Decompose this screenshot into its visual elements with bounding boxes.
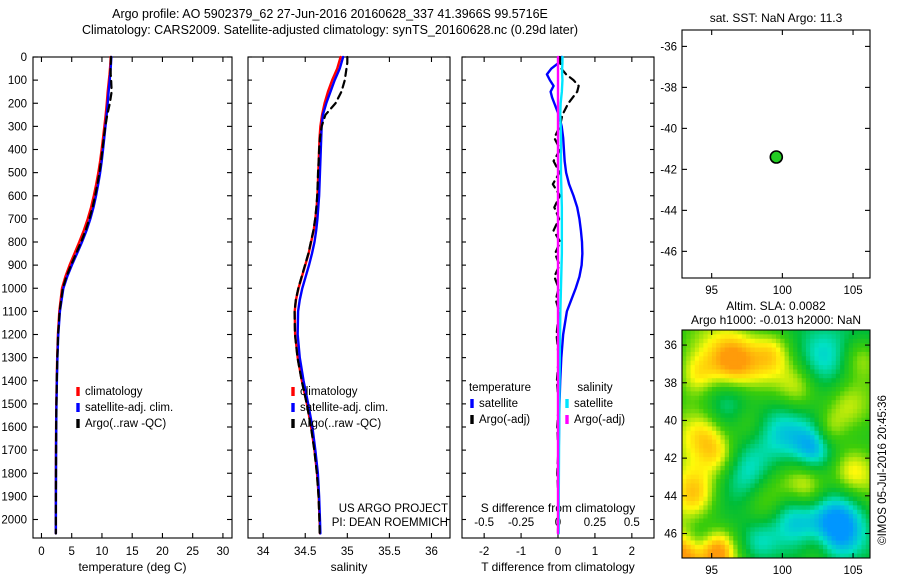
- sla-cell: [814, 466, 819, 471]
- sla-cell: [738, 431, 743, 436]
- sla-cell: [708, 479, 713, 484]
- sla-cell: [720, 545, 725, 550]
- sla-cell: [780, 387, 785, 392]
- sla-cell: [738, 462, 743, 467]
- sla-cell: [720, 343, 725, 348]
- sla-cell: [691, 457, 696, 462]
- sla-cell: [780, 418, 785, 423]
- sla-cell: [712, 470, 717, 475]
- sla-cell: [853, 462, 858, 467]
- sla-cell: [699, 532, 704, 537]
- sla-cell: [793, 343, 798, 348]
- sla-cell: [849, 536, 854, 541]
- sla-cell: [755, 352, 760, 357]
- sla-cell: [785, 523, 790, 528]
- sla-cell: [729, 549, 734, 554]
- sla-cell: [750, 505, 755, 510]
- sla-cell: [746, 391, 751, 396]
- sla-cell: [772, 413, 777, 418]
- sla-cell: [695, 475, 700, 480]
- sla-cell: [806, 378, 811, 383]
- sla-cell: [733, 339, 738, 344]
- sla-cell: [691, 391, 696, 396]
- sla-cell: [797, 361, 802, 366]
- sla-cell: [849, 523, 854, 528]
- sla-cell: [708, 361, 713, 366]
- sla-cell: [682, 540, 687, 545]
- sla-cell: [703, 523, 708, 528]
- sla-cell: [827, 413, 832, 418]
- sla-cell: [836, 374, 841, 379]
- sla-cell: [742, 361, 747, 366]
- sla-cell: [686, 435, 691, 440]
- sla-cell: [729, 444, 734, 449]
- sla-cell: [746, 352, 751, 357]
- sla-cell: [742, 466, 747, 471]
- sla-cell: [802, 453, 807, 458]
- sla-cell: [763, 348, 768, 353]
- sla-cell: [750, 453, 755, 458]
- sla-cell: [763, 352, 768, 357]
- sla-cell: [827, 497, 832, 502]
- sla-cell: [733, 343, 738, 348]
- sla-cell: [733, 475, 738, 480]
- sla-cell: [789, 519, 794, 524]
- sla-cell: [767, 348, 772, 353]
- sla-cell: [832, 479, 837, 484]
- sla-cell: [857, 330, 862, 335]
- sla-cell: [789, 470, 794, 475]
- sla-cell: [793, 497, 798, 502]
- sla-cell: [780, 405, 785, 410]
- sla-cell: [853, 405, 858, 410]
- sla-cell: [746, 422, 751, 427]
- sla-cell: [814, 501, 819, 506]
- sla-cell: [793, 527, 798, 532]
- sla-cell: [849, 374, 854, 379]
- sla-cell: [759, 396, 764, 401]
- sla-cell: [755, 501, 760, 506]
- sla-cell: [712, 330, 717, 335]
- sla-cell: [827, 532, 832, 537]
- sla-cell: [759, 497, 764, 502]
- sla-cell: [780, 532, 785, 537]
- sla-cell: [750, 356, 755, 361]
- sla-cell: [763, 365, 768, 370]
- sla-cell: [832, 536, 837, 541]
- sla-cell: [810, 356, 815, 361]
- sla-cell: [759, 527, 764, 532]
- sla-cell: [759, 453, 764, 458]
- sla-cell: [703, 488, 708, 493]
- sla-cell: [725, 475, 730, 480]
- sla-cell: [763, 396, 768, 401]
- sla-cell: [827, 369, 832, 374]
- sla-cell: [772, 532, 777, 537]
- sla-cell: [750, 409, 755, 414]
- altimeter-sla-label: Altim. SLA: 0.0082: [726, 299, 826, 313]
- sla-cell: [708, 391, 713, 396]
- sla-cell: [840, 501, 845, 506]
- sla-cell: [827, 405, 832, 410]
- sla-cell: [810, 483, 815, 488]
- sla-cell: [844, 545, 849, 550]
- sla-cell: [725, 396, 730, 401]
- sla-cell: [806, 369, 811, 374]
- sla-cell: [802, 365, 807, 370]
- sla-cell: [814, 343, 819, 348]
- sla-cell: [840, 400, 845, 405]
- sla-cell: [793, 339, 798, 344]
- sla-cell: [772, 440, 777, 445]
- sla-cell: [699, 470, 704, 475]
- sla-cell: [789, 444, 794, 449]
- sla-cell: [793, 400, 798, 405]
- sla-cell: [759, 545, 764, 550]
- sla-cell: [716, 497, 721, 502]
- sla-cell: [708, 497, 713, 502]
- sla-cell: [814, 330, 819, 335]
- sla-cell: [840, 374, 845, 379]
- sla-cell: [720, 540, 725, 545]
- sla-cell: [780, 396, 785, 401]
- sla-cell: [780, 514, 785, 519]
- sla-cell: [832, 488, 837, 493]
- sla-cell: [725, 510, 730, 515]
- sla-cell: [733, 409, 738, 414]
- sla-cell: [827, 479, 832, 484]
- sla-cell: [806, 418, 811, 423]
- sla-cell: [720, 426, 725, 431]
- sla-cell: [755, 374, 760, 379]
- sla-cell: [695, 361, 700, 366]
- sla-cell: [776, 519, 781, 524]
- sla-cell: [733, 413, 738, 418]
- sla-cell: [814, 339, 819, 344]
- sla-cell: [832, 497, 837, 502]
- sla-cell: [785, 387, 790, 392]
- sla-cell: [755, 396, 760, 401]
- sla-cell: [840, 510, 845, 515]
- sla-cell: [823, 435, 828, 440]
- sla-cell: [810, 466, 815, 471]
- sla-cell: [836, 479, 841, 484]
- sla-cell: [742, 418, 747, 423]
- sla-cell: [738, 501, 743, 506]
- sla-cell: [716, 369, 721, 374]
- sla-cell: [682, 514, 687, 519]
- sla-cell: [857, 343, 862, 348]
- sla-cell: [691, 466, 696, 471]
- sla-cell: [819, 444, 824, 449]
- sla-cell: [853, 466, 858, 471]
- sla-cell: [840, 549, 845, 554]
- sla-cell: [755, 549, 760, 554]
- sla-cell: [712, 527, 717, 532]
- sla-cell: [738, 348, 743, 353]
- sla-cell: [725, 378, 730, 383]
- sla-cell: [750, 457, 755, 462]
- sla-cell: [720, 475, 725, 480]
- sla-cell: [802, 348, 807, 353]
- sla-cell: [819, 356, 824, 361]
- sla-cell: [844, 466, 849, 471]
- sla-cell: [682, 527, 687, 532]
- sla-cell: [738, 361, 743, 366]
- sla-cell: [861, 549, 866, 554]
- sla-cell: [729, 409, 734, 414]
- sla-cell: [729, 440, 734, 445]
- sla-cell: [806, 365, 811, 370]
- sla-cell: [712, 418, 717, 423]
- profile-svg: 051015202530temperature (deg C)010020030…: [0, 40, 660, 580]
- sla-cell: [810, 396, 815, 401]
- sla-cell: [857, 405, 862, 410]
- sla-cell: [797, 444, 802, 449]
- sla-cell: [772, 483, 777, 488]
- sla-cell: [767, 519, 772, 524]
- sla-cell: [836, 453, 841, 458]
- sla-cell: [819, 488, 824, 493]
- sla-cell: [767, 540, 772, 545]
- sla-cell: [802, 391, 807, 396]
- sla-cell: [682, 462, 687, 467]
- sla-cell: [746, 330, 751, 335]
- sla-cell: [695, 391, 700, 396]
- sla-cell: [849, 444, 854, 449]
- sla-cell: [861, 413, 866, 418]
- sla-cell: [814, 396, 819, 401]
- sla-cell: [746, 435, 751, 440]
- sla-cell: [857, 488, 862, 493]
- sla-cell: [772, 523, 777, 528]
- sla-cell: [802, 431, 807, 436]
- sla-cell: [738, 356, 743, 361]
- sla-cell: [763, 483, 768, 488]
- sla-cell: [853, 400, 858, 405]
- sla-cell: [691, 413, 696, 418]
- sla-cell: [738, 549, 743, 554]
- sla-cell: [759, 470, 764, 475]
- sla-cell: [686, 440, 691, 445]
- sla-cell: [861, 497, 866, 502]
- sla-cell: [729, 426, 734, 431]
- sla-cell: [840, 497, 845, 502]
- sla-cell: [759, 475, 764, 480]
- sla-cell: [708, 462, 713, 467]
- sla-cell: [708, 396, 713, 401]
- s-tick-label: -0.5: [474, 517, 494, 529]
- sla-cell: [729, 378, 734, 383]
- sla-cell: [682, 391, 687, 396]
- sla-cell: [802, 413, 807, 418]
- sla-cell: [750, 374, 755, 379]
- sla-cell: [682, 334, 687, 339]
- sla-cell: [857, 435, 862, 440]
- sla-cell: [708, 466, 713, 471]
- sla-cell: [819, 483, 824, 488]
- sla-cell: [814, 356, 819, 361]
- sla-cell: [695, 365, 700, 370]
- sla-cell: [806, 497, 811, 502]
- sla-cell: [772, 488, 777, 493]
- sla-cell: [814, 527, 819, 532]
- sla-cell: [738, 483, 743, 488]
- sla-cell: [832, 356, 837, 361]
- sla-cell: [716, 453, 721, 458]
- sla-cell: [708, 352, 713, 357]
- sla-cell: [802, 426, 807, 431]
- sla-cell: [827, 483, 832, 488]
- sla-cell: [840, 457, 845, 462]
- sla-cell: [686, 330, 691, 335]
- sla-cell: [755, 365, 760, 370]
- sla-cell: [806, 483, 811, 488]
- sla-cell: [802, 378, 807, 383]
- sla-cell: [861, 361, 866, 366]
- sla-cell: [682, 413, 687, 418]
- sla-cell: [814, 453, 819, 458]
- sla-cell: [720, 391, 725, 396]
- sla-cell: [789, 453, 794, 458]
- sla-cell: [823, 396, 828, 401]
- sla-cell: [857, 339, 862, 344]
- sla-cell: [810, 431, 815, 436]
- sla-cell: [844, 523, 849, 528]
- sla-cell: [861, 523, 866, 528]
- sla-cell: [695, 549, 700, 554]
- sla-cell: [738, 505, 743, 510]
- sla-cell: [789, 505, 794, 510]
- sla-cell: [767, 488, 772, 493]
- sla-cell: [840, 352, 845, 357]
- sla-cell: [750, 501, 755, 506]
- sla-cell: [793, 330, 798, 335]
- sla-cell: [763, 400, 768, 405]
- sla-cell: [738, 444, 743, 449]
- sla-cell: [708, 348, 713, 353]
- map-y-tick: -36: [660, 41, 677, 53]
- sla-cell: [746, 334, 751, 339]
- sla-cell: [682, 365, 687, 370]
- sla-cell: [793, 334, 798, 339]
- sla-cell: [738, 527, 743, 532]
- sla-cell: [806, 492, 811, 497]
- sla-cell: [725, 422, 730, 427]
- sla-cell: [720, 470, 725, 475]
- map-svg: 95100105-36-38-40-42-44-46sat. SST: NaN …: [660, 0, 900, 580]
- sla-cell: [814, 422, 819, 427]
- sla-cell: [802, 387, 807, 392]
- sla-cell: [797, 536, 802, 541]
- sla-cell: [810, 387, 815, 392]
- sla-cell: [844, 549, 849, 554]
- sla-cell: [691, 536, 696, 541]
- sla-cell: [793, 396, 798, 401]
- sla-cell: [797, 339, 802, 344]
- sla-cell: [703, 405, 708, 410]
- sla-cell: [703, 435, 708, 440]
- sla-cell: [789, 383, 794, 388]
- sla-cell: [725, 466, 730, 471]
- sla-cell: [691, 514, 696, 519]
- sla-cell: [793, 492, 798, 497]
- sla-cell: [806, 470, 811, 475]
- sla-cell: [750, 549, 755, 554]
- sla-cell: [840, 431, 845, 436]
- sla-cell: [797, 387, 802, 392]
- sla-cell: [797, 523, 802, 528]
- sla-cell: [840, 348, 845, 353]
- sla-cell: [708, 523, 713, 528]
- sla-cell: [682, 444, 687, 449]
- sla-cell: [789, 426, 794, 431]
- sla-cell: [708, 492, 713, 497]
- sla-cell: [861, 426, 866, 431]
- sla-cell: [755, 457, 760, 462]
- sla-cell: [806, 466, 811, 471]
- sla-cell: [733, 330, 738, 335]
- sla-cell: [720, 330, 725, 335]
- sla-cell: [789, 422, 794, 427]
- legend-label: Argo(-adj): [479, 414, 530, 426]
- sla-cell: [844, 510, 849, 515]
- sla-cell: [861, 453, 866, 458]
- sla-cell: [729, 418, 734, 423]
- sla-cell: [712, 532, 717, 537]
- sla-cell: [695, 369, 700, 374]
- float-position-marker[interactable]: [770, 151, 782, 163]
- sla-cell: [789, 343, 794, 348]
- sla-cell: [733, 453, 738, 458]
- sla-cell: [793, 431, 798, 436]
- sla-cell: [695, 444, 700, 449]
- sla-cell: [682, 523, 687, 528]
- sla-cell: [725, 334, 730, 339]
- sla-cell: [789, 348, 794, 353]
- sla-cell: [686, 527, 691, 532]
- sla-cell: [857, 369, 862, 374]
- sla-cell: [716, 514, 721, 519]
- x-tick-label: 35: [341, 546, 354, 558]
- sla-cell: [725, 545, 730, 550]
- sla-cell: [802, 483, 807, 488]
- depth-tick-label: 1600: [1, 422, 27, 434]
- sla-cell: [712, 361, 717, 366]
- sla-cell: [767, 383, 772, 388]
- sla-cell: [797, 413, 802, 418]
- sla-cell: [823, 378, 828, 383]
- sla-cell: [789, 488, 794, 493]
- sla-cell: [742, 497, 747, 502]
- sla-cell: [695, 396, 700, 401]
- sla-cell: [827, 488, 832, 493]
- sla-cell: [733, 457, 738, 462]
- sla-cell: [810, 505, 815, 510]
- sla-cell: [720, 444, 725, 449]
- sla-cell: [789, 462, 794, 467]
- sla-cell: [776, 334, 781, 339]
- sla-cell: [780, 466, 785, 471]
- sla-cell: [836, 352, 841, 357]
- sla-cell: [738, 383, 743, 388]
- sla-cell: [729, 374, 734, 379]
- sla-cell: [857, 540, 862, 545]
- sla-cell: [814, 426, 819, 431]
- sla-cell: [793, 361, 798, 366]
- sla-cell: [712, 426, 717, 431]
- sla-cell: [767, 369, 772, 374]
